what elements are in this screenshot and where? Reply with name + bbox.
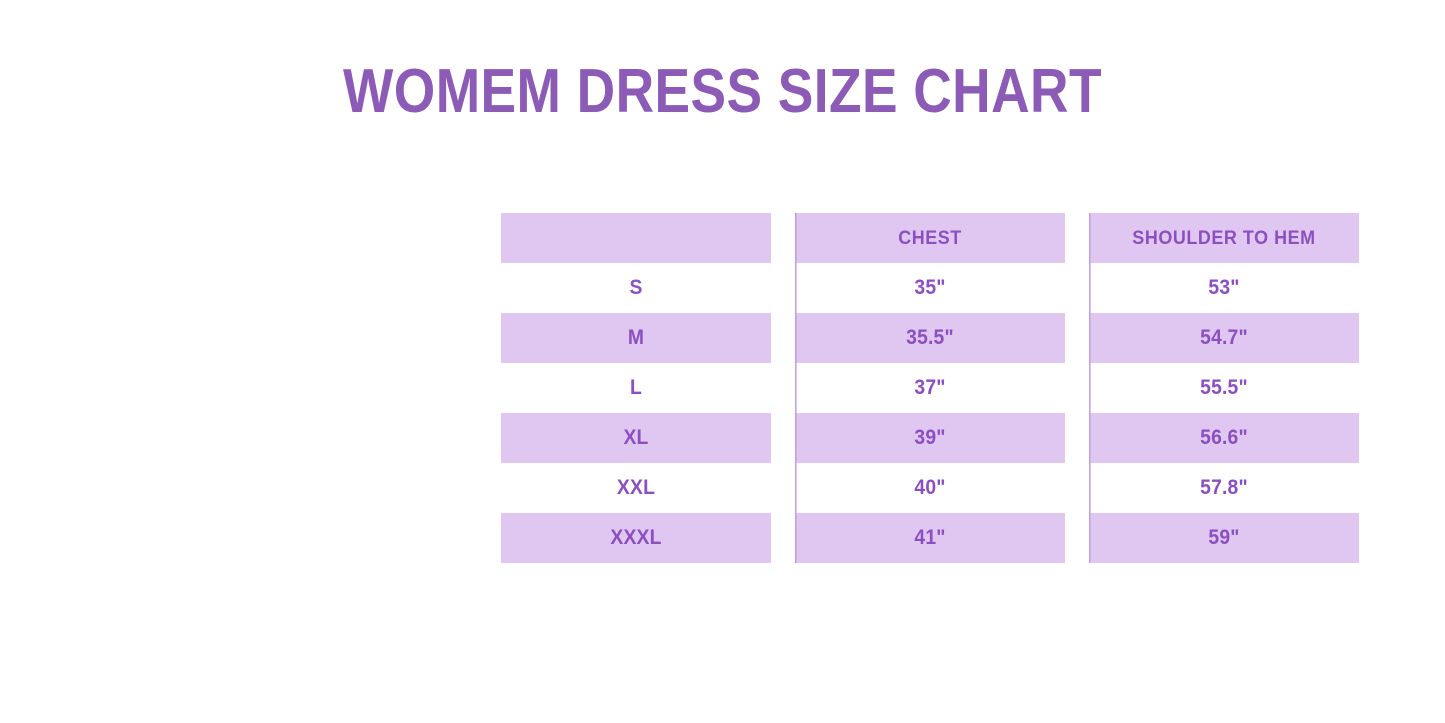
cell-chest: 35.5" [795,313,1065,363]
cell-shoulder-to-hem: 56.6" [1089,413,1359,463]
table-row: M 35.5" 54.7" [489,313,1371,363]
cell-size: XL [501,413,771,463]
cell-chest: 35" [795,263,1065,313]
table-row: XL 39" 56.6" [489,413,1371,463]
table-row: S 35" 53" [489,263,1371,313]
column-header-chest: CHEST [795,213,1065,263]
cell-chest: 41" [795,513,1065,563]
table-row: L 37" 55.5" [489,363,1371,413]
cell-size: XXL [501,463,771,513]
cell-shoulder-to-hem: 59" [1089,513,1359,563]
column-header-size [501,213,771,263]
page-title: WOMEM DRESS SIZE CHART [101,55,1344,129]
table-row: XXL 40" 57.8" [489,463,1371,513]
cell-chest: 39" [795,413,1065,463]
cell-shoulder-to-hem: 54.7" [1089,313,1359,363]
cell-shoulder-to-hem: 57.8" [1089,463,1359,513]
table-header-row: CHEST SHOULDER TO HEM [489,213,1371,263]
size-chart-table: CHEST SHOULDER TO HEM S 35" 53" M 35.5" … [489,213,1371,563]
cell-size: S [501,263,771,313]
cell-chest: 40" [795,463,1065,513]
cell-size: M [501,313,771,363]
cell-shoulder-to-hem: 55.5" [1089,363,1359,413]
table-row: XXXL 41" 59" [489,513,1371,563]
column-header-shoulder-to-hem: SHOULDER TO HEM [1089,213,1359,263]
cell-chest: 37" [795,363,1065,413]
cell-size: L [501,363,771,413]
size-chart-page: WOMEM DRESS SIZE CHART CHEST SHOULDER TO… [0,0,1445,723]
cell-shoulder-to-hem: 53" [1089,263,1359,313]
size-table-container: CHEST SHOULDER TO HEM S 35" 53" M 35.5" … [489,213,1371,567]
cell-size: XXXL [501,513,771,563]
